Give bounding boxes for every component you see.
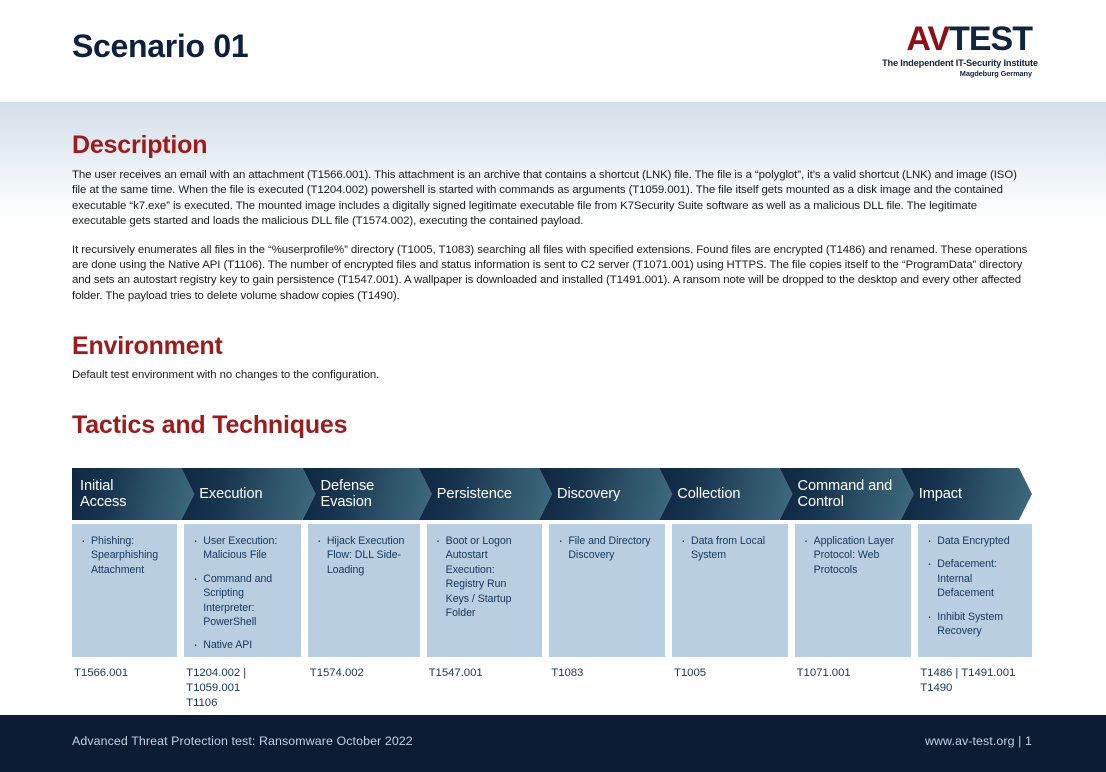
description-paragraph-1: The user receives an email with an attac… bbox=[72, 168, 1032, 230]
technique-ids-persistence: T1547.001 bbox=[427, 666, 543, 711]
technique-list: Application Layer Protocol: Web Protocol… bbox=[803, 534, 902, 577]
technique-cell-collection: Data from Local System bbox=[672, 524, 788, 657]
tactics-and-techniques-table: InitialAccessExecutionDefenseEvasionPers… bbox=[72, 468, 1032, 711]
tactic-header-persistence: Persistence bbox=[419, 468, 552, 520]
tactic-header-defense-evasion: DefenseEvasion bbox=[303, 468, 432, 520]
tactic-header-label: InitialAccess bbox=[72, 478, 132, 510]
technique-list: Phishing: Spearphishing Attachment bbox=[80, 534, 167, 577]
technique-cell-impact: Data EncryptedDefacement: Internal Defac… bbox=[918, 524, 1032, 657]
technique-cell-execution: User Execution: Malicious FileCommand an… bbox=[184, 524, 301, 657]
technique-list: Data EncryptedDefacement: Internal Defac… bbox=[926, 534, 1022, 638]
logo-location: Magdeburg Germany bbox=[882, 69, 1032, 78]
tactic-header-impact: Impact bbox=[901, 468, 1032, 520]
technique-item: Hijack Execution Flow: DLL Side-Loading bbox=[316, 534, 410, 577]
tactics-heading: Tactics and Techniques bbox=[72, 410, 1032, 440]
logo-tagline: The Independent IT-Security Institute bbox=[882, 58, 1032, 69]
technique-item: Phishing: Spearphishing Attachment bbox=[80, 534, 167, 577]
technique-cell-initial-access: Phishing: Spearphishing Attachment bbox=[72, 524, 177, 657]
page-header: Scenario 01 AVTEST The Independent IT-Se… bbox=[0, 0, 1106, 102]
technique-item: Data Encrypted bbox=[926, 534, 1022, 548]
environment-paragraph-1: Default test environment with no changes… bbox=[72, 368, 1032, 383]
environment-heading: Environment bbox=[72, 331, 1032, 361]
footer-website-and-page: www.av-test.org | 1 bbox=[925, 734, 1032, 748]
technique-item: Boot or Logon Autostart Execution: Regis… bbox=[435, 534, 533, 620]
technique-list: File and Directory Discovery bbox=[557, 534, 655, 563]
logo-av-text: AV bbox=[906, 20, 949, 58]
technique-cell-defense-evasion: Hijack Execution Flow: DLL Side-Loading bbox=[308, 524, 420, 657]
tactic-header-command-and-control: Command andControl bbox=[780, 468, 914, 520]
tactic-header-label: Collection bbox=[659, 486, 746, 502]
logo-test-text: TEST bbox=[949, 20, 1032, 58]
tactic-header-collection: Collection bbox=[659, 468, 792, 520]
document-body: Description The user receives an email w… bbox=[72, 130, 1032, 450]
description-heading: Description bbox=[72, 130, 1032, 160]
technique-list: Data from Local System bbox=[680, 534, 778, 563]
technique-ids-discovery: T1083 bbox=[549, 666, 665, 711]
page-title: Scenario 01 bbox=[72, 28, 248, 65]
technique-item: File and Directory Discovery bbox=[557, 534, 655, 563]
technique-list: Boot or Logon Autostart Execution: Regis… bbox=[435, 534, 533, 620]
tactic-header-label: Discovery bbox=[539, 486, 626, 502]
technique-list: Hijack Execution Flow: DLL Side-Loading bbox=[316, 534, 410, 577]
technique-ids-initial-access: T1566.001 bbox=[72, 666, 177, 711]
footer-test-name: Advanced Threat Protection test: Ransomw… bbox=[72, 734, 413, 748]
technique-cell-persistence: Boot or Logon Autostart Execution: Regis… bbox=[427, 524, 543, 657]
technique-ids-defense-evasion: T1574.002 bbox=[308, 666, 420, 711]
technique-item: User Execution: Malicious File bbox=[192, 534, 291, 563]
technique-cell-command-and-control: Application Layer Protocol: Web Protocol… bbox=[795, 524, 912, 657]
technique-ids-row: T1566.001T1204.002 | T1059.001 T1106T157… bbox=[72, 666, 1032, 711]
technique-item: Command and Scripting Interpreter: Power… bbox=[192, 572, 291, 630]
tactic-header-initial-access: InitialAccess bbox=[72, 468, 194, 520]
technique-item: Application Layer Protocol: Web Protocol… bbox=[803, 534, 902, 577]
description-paragraph-2: It recursively enumerates all files in t… bbox=[72, 243, 1032, 305]
technique-item: Data from Local System bbox=[680, 534, 778, 563]
tactic-header-discovery: Discovery bbox=[539, 468, 672, 520]
page-footer: Advanced Threat Protection test: Ransomw… bbox=[0, 715, 1106, 772]
tactic-header-label: Command andControl bbox=[780, 478, 899, 510]
technique-item: Defacement: Internal Defacement bbox=[926, 557, 1022, 600]
technique-cell-discovery: File and Directory Discovery bbox=[549, 524, 665, 657]
technique-item: Inhibit System Recovery bbox=[926, 610, 1022, 639]
tactics-header-row: InitialAccessExecutionDefenseEvasionPers… bbox=[72, 468, 1032, 520]
technique-ids-collection: T1005 bbox=[672, 666, 788, 711]
tactic-header-label: Persistence bbox=[419, 486, 518, 502]
tactic-header-execution: Execution bbox=[181, 468, 315, 520]
logo-wordmark: AVTEST bbox=[882, 22, 1032, 56]
technique-list: User Execution: Malicious FileCommand an… bbox=[192, 534, 291, 653]
technique-ids-execution: T1204.002 | T1059.001 T1106 bbox=[184, 666, 301, 711]
technique-item: Native API bbox=[192, 638, 291, 652]
av-test-logo: AVTEST The Independent IT-Security Insti… bbox=[882, 22, 1032, 78]
tactic-header-label: Execution bbox=[181, 486, 268, 502]
technique-ids-command-and-control: T1071.001 bbox=[795, 666, 912, 711]
technique-ids-impact: T1486 | T1491.001 T1490 bbox=[918, 666, 1032, 711]
techniques-row: Phishing: Spearphishing AttachmentUser E… bbox=[72, 524, 1032, 657]
